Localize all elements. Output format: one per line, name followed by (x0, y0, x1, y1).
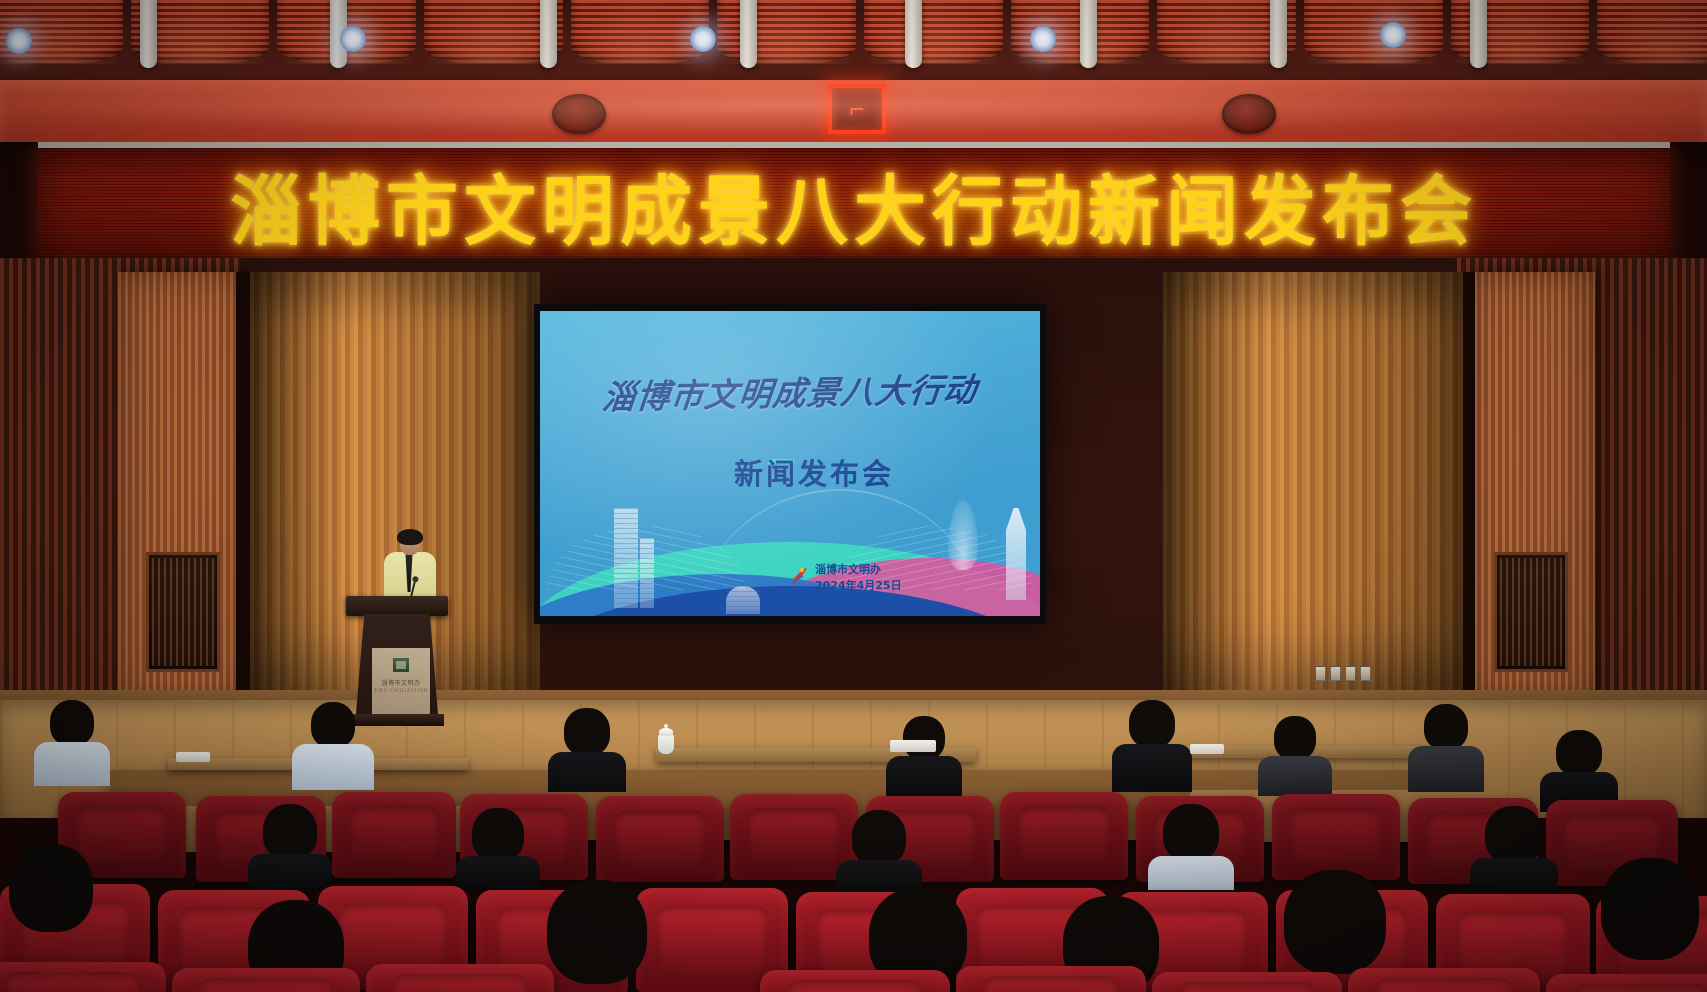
power-outlet-icon (1315, 666, 1326, 681)
teacup (658, 734, 674, 754)
power-outlet-icon (1330, 666, 1341, 681)
person-torso (1148, 856, 1234, 890)
person-head (852, 810, 906, 866)
audience-person (1540, 730, 1618, 806)
seat (1348, 968, 1540, 992)
ceiling-downlight (6, 28, 32, 54)
projection-screen: 淄博市文明成景八大行动 新闻发布会 淄博市文明办 2024年4月25日 (540, 311, 1040, 616)
audience-person (456, 808, 540, 884)
seat (332, 792, 456, 878)
presenter-figure (378, 532, 440, 604)
stage-curtain-right (1163, 272, 1463, 702)
person-head (1274, 716, 1316, 760)
audience-person (1112, 700, 1192, 790)
ceiling-rib (740, 0, 757, 68)
power-outlet-icon (1360, 666, 1371, 681)
person-head (1601, 858, 1699, 960)
person-torso (248, 854, 332, 890)
audience-person (34, 700, 110, 784)
led-banner: 淄博市文明成景八大行动新闻发布会 (38, 142, 1670, 260)
audience-person (886, 716, 962, 796)
ceiling-soffit-band: ⌐ (0, 80, 1707, 142)
exit-sign-icon: ⌐ (828, 84, 886, 134)
panel-window-left (146, 552, 220, 672)
person-head (1284, 870, 1386, 974)
screen-torch-flame-icon (948, 500, 978, 570)
audience-person (292, 702, 374, 788)
podium-emblem-sublabel: ZIBO CIVILIZATION (372, 688, 430, 693)
person-torso (548, 752, 626, 792)
notepad-paper (176, 752, 210, 762)
ceiling-downlight (1030, 26, 1056, 52)
auditorium-photo-scene: ⌐ 淄博市文明成景八大行动新闻发布会 (0, 0, 1707, 992)
audience-person (1148, 804, 1234, 886)
seat (0, 962, 166, 992)
ceiling-rib (905, 0, 922, 68)
audience-person (548, 708, 626, 790)
screen-obelisk-silhouette (1006, 508, 1026, 600)
person-torso (1112, 744, 1192, 792)
person-torso (886, 756, 962, 798)
person-torso (34, 742, 110, 786)
wood-panel-left (118, 272, 248, 702)
notepad-paper (890, 740, 936, 752)
ceiling-coffer (1597, 0, 1707, 64)
person-head (1424, 704, 1468, 750)
ceiling-rib (1470, 0, 1487, 68)
screen-subtitle: 新闻发布会 (540, 451, 1040, 493)
ceiling-downlight (1380, 22, 1406, 48)
panel-window-right (1494, 552, 1568, 672)
ceiling-speaker-icon (1222, 94, 1276, 134)
seat (1152, 972, 1342, 992)
ceiling-coffer-row (0, 0, 1707, 64)
audience-person (1590, 858, 1707, 984)
projection-screen-frame: 淄博市文明成景八大行动 新闻发布会 淄博市文明办 2024年4月25日 (534, 304, 1046, 624)
audience-person (1258, 716, 1332, 794)
screen-organizer-block: 淄博市文明办 2024年4月25日 (815, 562, 902, 594)
screen-tower-silhouette (614, 508, 638, 608)
wood-panel-right (1467, 272, 1595, 702)
seat (760, 970, 950, 992)
ceiling-rib (540, 0, 557, 68)
person-torso (1470, 858, 1558, 892)
ceiling-downlight (340, 26, 366, 52)
ceiling-coffer (864, 0, 1003, 64)
ceiling-rib (140, 0, 157, 68)
person-torso (292, 744, 374, 790)
screen-organizer-logo-icon (788, 563, 810, 589)
person-torso (456, 856, 540, 890)
ceiling (0, 0, 1707, 82)
podium-body: 淄博市文明办 ZIBO CIVILIZATION (356, 614, 438, 714)
notepad-paper (1190, 744, 1224, 754)
person-head (1485, 806, 1543, 864)
person-head (311, 702, 355, 748)
person-head (564, 708, 610, 756)
audience-person (0, 844, 106, 954)
seat (1000, 792, 1128, 880)
podium-desktop (346, 596, 448, 616)
seat (596, 796, 724, 882)
podium-emblem-icon (393, 658, 409, 672)
ceiling-rib (1080, 0, 1097, 68)
person-head (1163, 804, 1219, 862)
person-head (547, 880, 647, 984)
person-head (263, 804, 317, 860)
person-head (1129, 700, 1175, 748)
wall-power-outlets (1315, 666, 1371, 681)
screen-tower-silhouette (640, 538, 654, 608)
audience-area (0, 700, 1707, 992)
ceiling-speaker-icon (552, 94, 606, 134)
audience-person (248, 804, 332, 884)
audience-person (1408, 704, 1484, 790)
person-head (9, 844, 93, 932)
ceiling-coffer (1304, 0, 1443, 64)
audience-person (1470, 806, 1558, 888)
person-head (903, 716, 945, 760)
power-outlet-icon (1345, 666, 1356, 681)
person-head (1556, 730, 1602, 776)
seat (1546, 974, 1707, 992)
presenter-hair (397, 529, 423, 545)
seat (956, 966, 1146, 992)
podium-emblem-label: 淄博市文明办 (372, 678, 430, 687)
screen-dome-silhouette (726, 586, 760, 614)
seat (172, 968, 360, 992)
screen-title: 淄博市文明成景八大行动 (540, 362, 1040, 420)
exit-sign-glyph: ⌐ (849, 94, 864, 125)
screen-organizer-date: 2024年4月25日 (815, 578, 902, 594)
ceiling-rib (1270, 0, 1287, 68)
person-head (472, 808, 524, 862)
person-head (50, 700, 94, 746)
screen-organizer-name: 淄博市文明办 (815, 562, 902, 578)
ceiling-coffer (717, 0, 856, 64)
seat (366, 964, 554, 992)
led-banner-text: 淄博市文明成景八大行动新闻发布会 (230, 148, 1478, 259)
audience-person (836, 810, 922, 886)
ceiling-downlight (690, 26, 716, 52)
seat (1272, 794, 1400, 880)
person-torso (1408, 746, 1484, 792)
person-torso (1258, 756, 1332, 796)
ceiling-coffer (571, 0, 710, 64)
